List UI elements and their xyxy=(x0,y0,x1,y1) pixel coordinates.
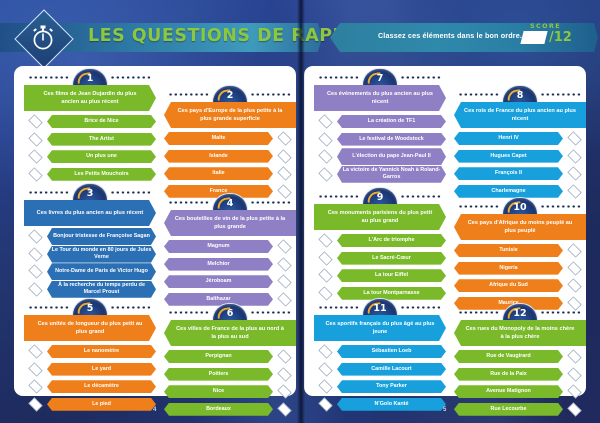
card-prompt: Ces rois de France du plus ancien au plu… xyxy=(454,102,586,128)
answer-order-box[interactable] xyxy=(277,367,291,381)
answer-order-box[interactable] xyxy=(28,229,42,243)
answer-order-box[interactable] xyxy=(277,149,291,163)
dot-rule-right xyxy=(250,200,292,205)
dot-rule-left xyxy=(168,310,210,315)
answer-order-box[interactable] xyxy=(318,344,332,358)
card-number-badge: 9 xyxy=(362,187,398,205)
answer-pill: Rue de Vaugirard xyxy=(454,350,563,363)
answer-pill: Charlemagne xyxy=(454,185,563,198)
answer-order-box[interactable] xyxy=(567,402,581,416)
question-card-6: 6Ces villes de France de la plus au nord… xyxy=(164,303,296,419)
answer-row: Afrique du Sud xyxy=(454,278,586,293)
card-prompt: Ces rues du Monopoly de la moins chère à… xyxy=(454,320,586,346)
answer-order-box[interactable] xyxy=(318,132,332,146)
answer-pill: La tour Eiffel xyxy=(337,269,446,282)
card-prompt: Ces monuments parisiens du plus petit au… xyxy=(314,204,446,230)
question-card-4: 4Ces bouteilles de vin de la plus petite… xyxy=(164,193,296,309)
answer-list: Rue de VaugirardRue de la PaixAvenue Mat… xyxy=(454,349,586,417)
answer-order-box[interactable] xyxy=(567,167,581,181)
answer-pill: Le Sacré-Cœur xyxy=(337,252,446,265)
dot-rule-right xyxy=(540,204,582,209)
answer-list: PerpignanPoitiersNiceBordeaux xyxy=(164,349,296,417)
card-number-label: 7 xyxy=(363,73,397,84)
card-number-badge: 3 xyxy=(72,183,108,201)
card-number-strip: 3 xyxy=(24,183,156,200)
answer-order-box[interactable] xyxy=(28,167,42,181)
card-number-label: 8 xyxy=(503,90,537,101)
answer-pill: The Artist xyxy=(47,133,156,146)
card-prompt: Ces pays d'Europe de la plus petite à la… xyxy=(164,102,296,128)
answer-row: Henri IV xyxy=(454,131,586,146)
answer-row: Le Sacré-Cœur xyxy=(314,251,446,266)
answer-order-box[interactable] xyxy=(567,385,581,399)
answer-row: Le décamètre xyxy=(24,379,156,394)
answer-row: Nigeria xyxy=(454,261,586,276)
answer-row: Nice xyxy=(164,384,296,399)
dot-rule-right xyxy=(110,75,152,80)
answer-pill: Nice xyxy=(164,385,273,398)
answer-row: Camille Lacourt xyxy=(314,362,446,377)
answer-order-box[interactable] xyxy=(28,114,42,128)
answer-pill: Le décamètre xyxy=(47,380,156,393)
card-number-strip: 2 xyxy=(164,85,296,102)
dot-rule-left xyxy=(168,92,210,97)
answer-pill: Brice de Nice xyxy=(47,115,156,128)
answer-pill: Un plus une xyxy=(47,150,156,163)
answer-order-box[interactable] xyxy=(277,402,291,416)
answer-pill: Rue Lecourbe xyxy=(454,403,563,416)
answer-pill: Avenue Matignon xyxy=(454,385,563,398)
answer-pill: Poitiers xyxy=(164,368,273,381)
answer-row: Rue Lecourbe xyxy=(454,402,586,417)
card-prompt: Ces villes de France de la plus au nord … xyxy=(164,320,296,346)
card-number-label: 6 xyxy=(213,308,247,319)
answer-pill: Bonjour tristesse de Françoise Sagan xyxy=(47,228,156,245)
score-total: /12 xyxy=(549,30,572,45)
answer-order-box[interactable] xyxy=(28,247,42,261)
answer-row: Tony Parker xyxy=(314,379,446,394)
answer-pill: Nigeria xyxy=(454,262,563,275)
card-number-badge: 2 xyxy=(212,85,248,103)
question-card-3: 3Ces livres du plus ancien au plus récen… xyxy=(24,183,156,299)
card-number-strip: 8 xyxy=(454,85,586,102)
answer-row: N'Golo Kanté xyxy=(314,397,446,412)
answer-row: La tour Eiffel xyxy=(314,268,446,283)
answer-order-box[interactable] xyxy=(318,380,332,394)
answer-row: L'Arc de triomphe xyxy=(314,233,446,248)
answer-row: Rue de la Paix xyxy=(454,367,586,382)
dot-rule-left xyxy=(318,75,360,80)
answer-pill: Henri IV xyxy=(454,132,563,145)
dot-rule-right xyxy=(250,92,292,97)
card-prompt: Ces films de Jean Dujardin du plus ancie… xyxy=(24,85,156,111)
dot-rule-left xyxy=(28,305,70,310)
answer-order-box[interactable] xyxy=(28,282,42,296)
answer-order-box[interactable] xyxy=(318,251,332,265)
answer-row: Hugues Capet xyxy=(454,149,586,164)
score-badge: SCORE /12 xyxy=(522,22,584,54)
answer-order-box[interactable] xyxy=(28,362,42,376)
question-card-7: 7Ces évènements du plus ancien au plus r… xyxy=(314,68,446,184)
card-number-badge: 1 xyxy=(72,68,108,86)
dot-rule-right xyxy=(250,310,292,315)
answer-row: Malte xyxy=(164,131,296,146)
book-gutter xyxy=(297,0,305,423)
answer-pill: La victoire de Yannick Noah à Roland-Gar… xyxy=(337,166,446,183)
dot-rule-left xyxy=(458,310,500,315)
answer-order-box[interactable] xyxy=(28,150,42,164)
answer-order-box[interactable] xyxy=(277,257,291,271)
card-number-badge: 5 xyxy=(72,298,108,316)
card-prompt: Ces unités de longueur du plus petit au … xyxy=(24,315,156,341)
question-card-12: 12Ces rues du Monopoly de la moins chère… xyxy=(454,303,586,419)
answer-pill: N'Golo Kanté xyxy=(337,398,446,411)
card-number-badge: 11 xyxy=(362,298,398,316)
card-number-badge: 10 xyxy=(502,197,538,215)
dot-rule-right xyxy=(110,190,152,195)
card-number-strip: 11 xyxy=(314,298,446,315)
answer-list: Sébastien LoebCamille LacourtTony Parker… xyxy=(314,344,446,412)
dot-rule-left xyxy=(458,92,500,97)
answer-order-box[interactable] xyxy=(277,167,291,181)
answer-list: MalteIslandeItalieFrance xyxy=(164,131,296,199)
answer-order-box[interactable] xyxy=(318,269,332,283)
answer-pill: L'élection du pape Jean-Paul II xyxy=(337,148,446,165)
answer-row: Brice de Nice xyxy=(24,114,156,129)
answer-row: François II xyxy=(454,166,586,181)
question-card-1: 1Ces films de Jean Dujardin du plus anci… xyxy=(24,68,156,184)
dot-rule-right xyxy=(540,310,582,315)
answer-order-box[interactable] xyxy=(318,167,332,181)
page-number-right: 5 xyxy=(443,407,446,413)
answer-row: Italie xyxy=(164,166,296,181)
answer-order-box[interactable] xyxy=(28,344,42,358)
card-number-label: 10 xyxy=(503,202,537,213)
card-number-label: 12 xyxy=(503,308,537,319)
dot-rule-left xyxy=(28,75,70,80)
answer-row: Les Petits Mouchoirs xyxy=(24,167,156,182)
answer-pill: Italie xyxy=(164,167,273,180)
answer-order-box[interactable] xyxy=(28,397,42,411)
answer-row: À la recherche du temps perdu de Marcel … xyxy=(24,282,156,297)
answer-row: Sébastien Loeb xyxy=(314,344,446,359)
answer-pill: Afrique du Sud xyxy=(454,279,563,292)
answer-row: Bordeaux xyxy=(164,402,296,417)
card-number-strip: 6 xyxy=(164,303,296,320)
answer-list: Le nanomètreLe yardLe décamètreLe pied xyxy=(24,344,156,412)
card-number-label: 3 xyxy=(73,188,107,199)
answer-pill: Perpignan xyxy=(164,350,273,363)
answer-pill: Hugues Capet xyxy=(454,150,563,163)
card-number-badge: 6 xyxy=(212,303,248,321)
answer-row: L'élection du pape Jean-Paul II xyxy=(314,149,446,164)
card-number-strip: 4 xyxy=(164,193,296,210)
answer-row: Le nanomètre xyxy=(24,344,156,359)
dot-rule-left xyxy=(318,194,360,199)
answer-pill: Le nanomètre xyxy=(47,345,156,358)
answer-order-box[interactable] xyxy=(277,275,291,289)
answer-row: Le pied xyxy=(24,397,156,412)
answer-row: Avenue Matignon xyxy=(454,384,586,399)
card-number-strip: 12 xyxy=(454,303,586,320)
answer-row: Perpignan xyxy=(164,349,296,364)
score-input-box[interactable] xyxy=(520,31,547,44)
answer-pill: Notre-Dame de Paris de Victor Hugo xyxy=(47,263,156,280)
dot-rule-right xyxy=(400,194,442,199)
answer-row: Un plus une xyxy=(24,149,156,164)
card-number-strip: 9 xyxy=(314,187,446,204)
card-number-strip: 1 xyxy=(24,68,156,85)
answer-order-box[interactable] xyxy=(567,367,581,381)
answer-order-box[interactable] xyxy=(567,149,581,163)
card-number-strip: 10 xyxy=(454,197,586,214)
answer-pill: Les Petits Mouchoirs xyxy=(47,168,156,181)
card-number-strip: 5 xyxy=(24,298,156,315)
card-number-label: 5 xyxy=(73,303,107,314)
answer-list: TunisieNigeriaAfrique du SudMaurice xyxy=(454,243,586,311)
answer-list: MagnumMelchiorJéroboamBalthazar xyxy=(164,239,296,307)
answer-order-box[interactable] xyxy=(567,349,581,363)
answer-row: Rue de Vaugirard xyxy=(454,349,586,364)
answer-pill: Islande xyxy=(164,150,273,163)
answer-row: The Artist xyxy=(24,132,156,147)
answer-pill: Le festival de Woodstock xyxy=(337,133,446,146)
answer-row: Magnum xyxy=(164,239,296,254)
instruction-text: Classez ces éléments dans le bon ordre. xyxy=(360,31,540,40)
dot-rule-right xyxy=(110,305,152,310)
dot-rule-right xyxy=(540,92,582,97)
card-number-badge: 8 xyxy=(502,85,538,103)
answer-order-box[interactable] xyxy=(277,131,291,145)
answer-pill: Tony Parker xyxy=(337,380,446,393)
answer-row: Islande xyxy=(164,149,296,164)
answer-pill: Melchior xyxy=(164,258,273,271)
stopwatch-icon xyxy=(20,15,66,61)
score-label: SCORE xyxy=(530,22,561,30)
answer-row: Le yard xyxy=(24,362,156,377)
answer-order-box[interactable] xyxy=(318,397,332,411)
card-prompt: Ces livres du plus ancien au plus récent xyxy=(24,200,156,226)
answer-pill: La création de TF1 xyxy=(337,115,446,128)
answer-pill: Rue de la Paix xyxy=(454,368,563,381)
question-card-10: 10Ces pays d'Afrique du moins peuplé au … xyxy=(454,197,586,313)
answer-order-box[interactable] xyxy=(318,114,332,128)
answer-list: Bonjour tristesse de Françoise SaganLe T… xyxy=(24,229,156,297)
answer-pill: François II xyxy=(454,167,563,180)
card-number-label: 11 xyxy=(363,303,397,314)
question-card-9: 9Ces monuments parisiens du plus petit a… xyxy=(314,187,446,303)
dot-rule-left xyxy=(28,190,70,195)
answer-row: Le festival de Woodstock xyxy=(314,132,446,147)
answer-pill: Malte xyxy=(164,132,273,145)
answer-order-box[interactable] xyxy=(277,239,291,253)
answer-pill: Le pied xyxy=(47,398,156,411)
question-card-8: 8Ces rois de France du plus ancien au pl… xyxy=(454,85,586,201)
answer-order-box[interactable] xyxy=(28,265,42,279)
card-prompt: Ces pays d'Afrique du moins peuplé au pl… xyxy=(454,214,586,240)
dot-rule-right xyxy=(400,305,442,310)
card-prompt: Ces sportifs français du plus âgé au plu… xyxy=(314,315,446,341)
answer-order-box[interactable] xyxy=(318,362,332,376)
question-card-2: 2Ces pays d'Europe de la plus petite à l… xyxy=(164,85,296,201)
answer-order-box[interactable] xyxy=(567,279,581,293)
answer-order-box[interactable] xyxy=(567,131,581,145)
dot-rule-right xyxy=(400,75,442,80)
answer-order-box[interactable] xyxy=(28,132,42,146)
answer-pill: Magnum xyxy=(164,240,273,253)
answer-order-box[interactable] xyxy=(567,261,581,275)
page-number-left: 4 xyxy=(153,407,156,413)
answer-pill: Camille Lacourt xyxy=(337,363,446,376)
answer-row: Jéroboam xyxy=(164,274,296,289)
answer-order-box[interactable] xyxy=(28,380,42,394)
answer-order-box[interactable] xyxy=(318,233,332,247)
answer-pill: L'Arc de triomphe xyxy=(337,234,446,247)
answer-row: Bonjour tristesse de Françoise Sagan xyxy=(24,229,156,244)
answer-list: La création de TF1Le festival de Woodsto… xyxy=(314,114,446,182)
answer-row: Le Tour du monde en 80 jours de Jules Ve… xyxy=(24,247,156,262)
card-number-badge: 7 xyxy=(362,68,398,86)
answer-row: La création de TF1 xyxy=(314,114,446,129)
answer-pill: Tunisie xyxy=(454,244,563,257)
answer-row: Tunisie xyxy=(454,243,586,258)
card-number-label: 1 xyxy=(73,73,107,84)
card-prompt: Ces bouteilles de vin de la plus petite … xyxy=(164,210,296,236)
quiz-page-spread: LES QUESTIONS DE RAPIDITÉ Classez ces él… xyxy=(0,0,600,423)
card-number-badge: 12 xyxy=(502,303,538,321)
answer-list: Brice de NiceThe ArtistUn plus uneLes Pe… xyxy=(24,114,156,182)
answer-pill: Le yard xyxy=(47,363,156,376)
answer-order-box[interactable] xyxy=(277,349,291,363)
card-number-label: 2 xyxy=(213,90,247,101)
answer-pill: Bordeaux xyxy=(164,403,273,416)
card-number-label: 4 xyxy=(213,198,247,209)
answer-list: Henri IVHugues CapetFrançois IICharlemag… xyxy=(454,131,586,199)
answer-order-box[interactable] xyxy=(318,150,332,164)
answer-pill: Le Tour du monde en 80 jours de Jules Ve… xyxy=(47,246,156,263)
answer-row: Notre-Dame de Paris de Victor Hugo xyxy=(24,264,156,279)
card-number-label: 9 xyxy=(363,192,397,203)
card-prompt: Ces évènements du plus ancien au plus ré… xyxy=(314,85,446,111)
dot-rule-left xyxy=(168,200,210,205)
answer-pill: À la recherche du temps perdu de Marcel … xyxy=(47,281,156,298)
answer-list: L'Arc de triompheLe Sacré-CœurLa tour Ei… xyxy=(314,233,446,301)
dot-rule-left xyxy=(458,204,500,209)
answer-pill: Sébastien Loeb xyxy=(337,345,446,358)
card-number-badge: 4 xyxy=(212,193,248,211)
answer-order-box[interactable] xyxy=(277,385,291,399)
card-number-strip: 7 xyxy=(314,68,446,85)
answer-row: Poitiers xyxy=(164,367,296,382)
question-card-5: 5Ces unités de longueur du plus petit au… xyxy=(24,298,156,414)
answer-row: Melchior xyxy=(164,257,296,272)
dot-rule-left xyxy=(318,305,360,310)
answer-row: La victoire de Yannick Noah à Roland-Gar… xyxy=(314,167,446,182)
answer-pill: Jéroboam xyxy=(164,275,273,288)
question-card-11: 11Ces sportifs français du plus âgé au p… xyxy=(314,298,446,414)
answer-order-box[interactable] xyxy=(567,243,581,257)
